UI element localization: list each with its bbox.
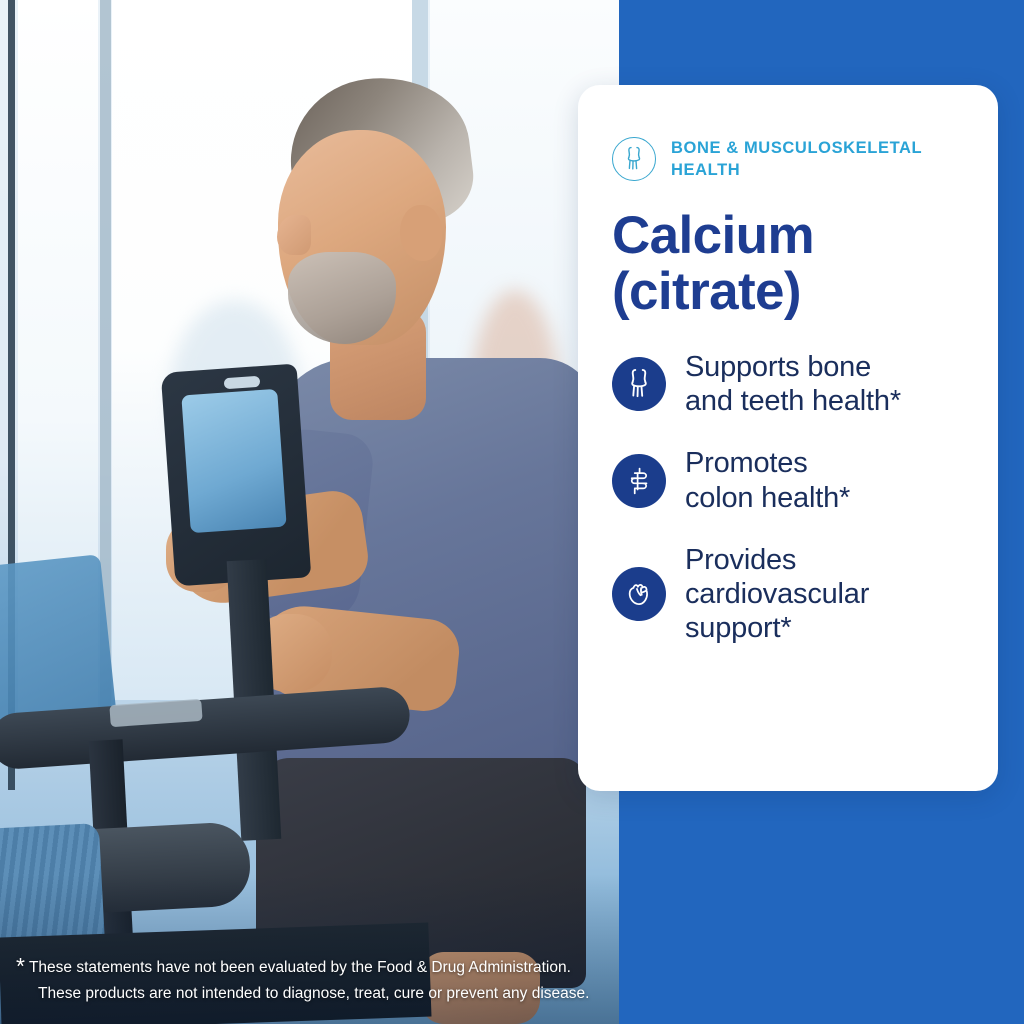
category-header: BONE & MUSCULOSKELETAL HEALTH <box>612 137 964 182</box>
infographic-canvas: BONE & MUSCULOSKELETAL HEALTH Calcium (c… <box>0 0 1024 1024</box>
title-line-1: Calcium <box>612 206 814 265</box>
disclaimer-line-1: These statements have not been evaluated… <box>29 959 571 976</box>
product-card: BONE & MUSCULOSKELETAL HEALTH Calcium (c… <box>578 85 998 791</box>
intestine-colon-icon <box>612 454 666 508</box>
page-title: Calcium (citrate) <box>612 208 964 320</box>
asterisk-marker: * <box>16 953 25 979</box>
benefit-line: cardiovascular <box>685 578 869 610</box>
benefit-line: Supports bone <box>685 351 871 383</box>
benefit-line: Promotes <box>685 447 808 479</box>
benefit-line: and teeth health* <box>685 385 901 417</box>
disclaimer-line-2: These products are not intended to diagn… <box>16 981 616 1008</box>
benefit-text: Provides cardiovascular support* <box>685 543 869 646</box>
title-line-2: (citrate) <box>612 262 801 321</box>
hero-photo <box>0 0 640 1024</box>
bone-joint-outline-icon <box>612 137 656 181</box>
list-item: Supports bone and teeth health* <box>612 350 964 418</box>
runner-ear <box>400 205 442 261</box>
list-item: Provides cardiovascular support* <box>612 543 964 646</box>
category-label: BONE & MUSCULOSKELETAL HEALTH <box>671 137 964 182</box>
benefit-line: Provides <box>685 544 796 576</box>
treadmill-screen <box>181 389 286 533</box>
benefit-list: Supports bone and teeth health* <box>612 350 964 646</box>
anatomical-heart-icon <box>612 567 666 621</box>
benefit-line: colon health* <box>685 482 850 514</box>
list-item: Promotes colon health* <box>612 446 964 514</box>
runner-nose <box>277 215 311 255</box>
benefit-line: support* <box>685 612 791 644</box>
benefit-text: Promotes colon health* <box>685 446 850 514</box>
benefit-text: Supports bone and teeth health* <box>685 350 901 418</box>
fda-disclaimer: *These statements have not been evaluate… <box>16 955 616 1008</box>
bone-joint-icon <box>612 357 666 411</box>
